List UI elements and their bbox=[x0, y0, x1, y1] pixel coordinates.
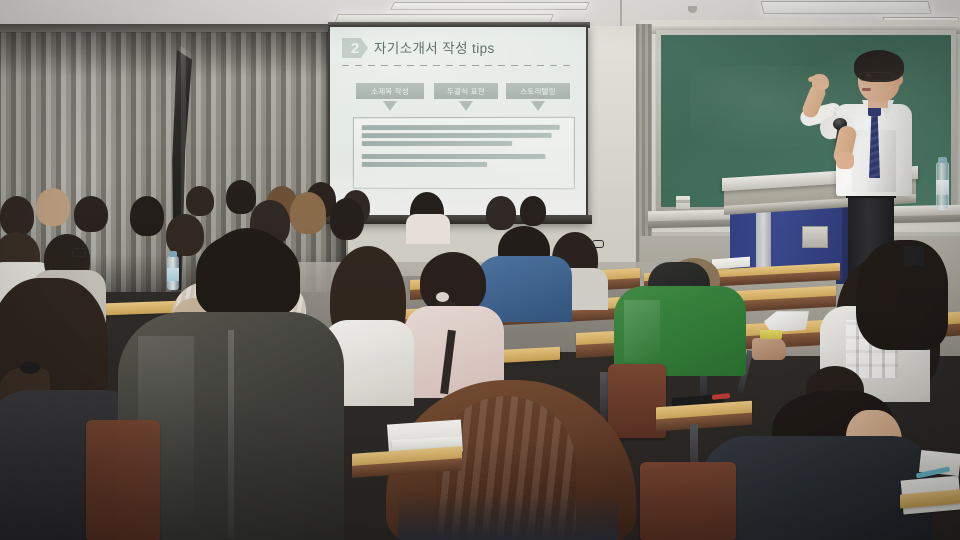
hair-tie bbox=[20, 362, 40, 374]
student-glasses bbox=[72, 248, 86, 257]
slide-content: 2 자기소개서 작성 tips 소제목 작성 두괄식 표현 스토리텔링 bbox=[330, 27, 586, 218]
water-bottle-label bbox=[936, 180, 949, 195]
student-hair bbox=[0, 196, 34, 236]
student-hair bbox=[130, 196, 164, 236]
water-bottle-cap bbox=[938, 157, 947, 163]
text-line bbox=[362, 162, 488, 167]
student-hair bbox=[520, 196, 546, 226]
student-glasses bbox=[592, 240, 604, 248]
student-hair bbox=[226, 180, 256, 214]
student-torso bbox=[406, 214, 450, 244]
chair-back bbox=[86, 420, 160, 540]
student-hair bbox=[330, 198, 364, 240]
sprinkler-icon bbox=[688, 6, 697, 13]
student-hair bbox=[166, 214, 204, 256]
jacket-seam bbox=[228, 330, 234, 538]
down-arrow-icon bbox=[459, 101, 473, 111]
red-pen bbox=[712, 393, 730, 400]
hoodie-highlight bbox=[624, 300, 660, 362]
down-arrow-icon bbox=[531, 101, 545, 111]
student-hair bbox=[36, 188, 70, 226]
down-arrow-icon bbox=[383, 101, 397, 111]
text-line bbox=[362, 141, 512, 146]
student-hair bbox=[486, 196, 516, 230]
student-hair bbox=[74, 196, 108, 232]
presenter-eye bbox=[866, 74, 871, 77]
text-line bbox=[362, 154, 545, 159]
lecture-hall-photo: (function(){ var w=document.getElementBy… bbox=[0, 0, 960, 540]
student-shoulder bbox=[904, 246, 924, 266]
text-line bbox=[362, 133, 551, 138]
presenter-glasses bbox=[859, 72, 893, 81]
text-line bbox=[362, 125, 560, 130]
slide-step-box: 소제목 작성 bbox=[356, 83, 424, 99]
projection-screen: 2 자기소개서 작성 tips 소제목 작성 두괄식 표현 스토리텔링 bbox=[328, 25, 588, 223]
slide-step-box: 스토리텔링 bbox=[506, 83, 570, 99]
yellow-notebook bbox=[760, 330, 782, 339]
student-shoulders bbox=[398, 494, 618, 540]
foreground-student-hair bbox=[196, 232, 300, 318]
presenter-hair-fringe bbox=[856, 58, 900, 72]
long-hair-front-strand bbox=[856, 240, 948, 350]
handbag bbox=[752, 338, 786, 360]
water-bottle-label bbox=[167, 268, 179, 281]
ceiling-light-panel bbox=[390, 2, 590, 10]
slide-body-text bbox=[354, 118, 574, 177]
presenter-mouth bbox=[862, 88, 871, 91]
slide-divider bbox=[342, 65, 576, 66]
hair-tie bbox=[436, 292, 449, 302]
student-hair bbox=[186, 186, 214, 216]
lectern-panel bbox=[802, 226, 828, 248]
student-hair bbox=[290, 192, 326, 234]
chair-back bbox=[640, 462, 736, 540]
slide-title: 자기소개서 작성 tips bbox=[374, 37, 495, 57]
water-bottle-cap bbox=[169, 251, 177, 257]
slide-step-box: 두괄식 표현 bbox=[434, 83, 498, 99]
ceiling-light-panel bbox=[760, 1, 931, 14]
presenter-hand-right bbox=[836, 152, 854, 169]
chalk-eraser-band bbox=[676, 200, 690, 203]
